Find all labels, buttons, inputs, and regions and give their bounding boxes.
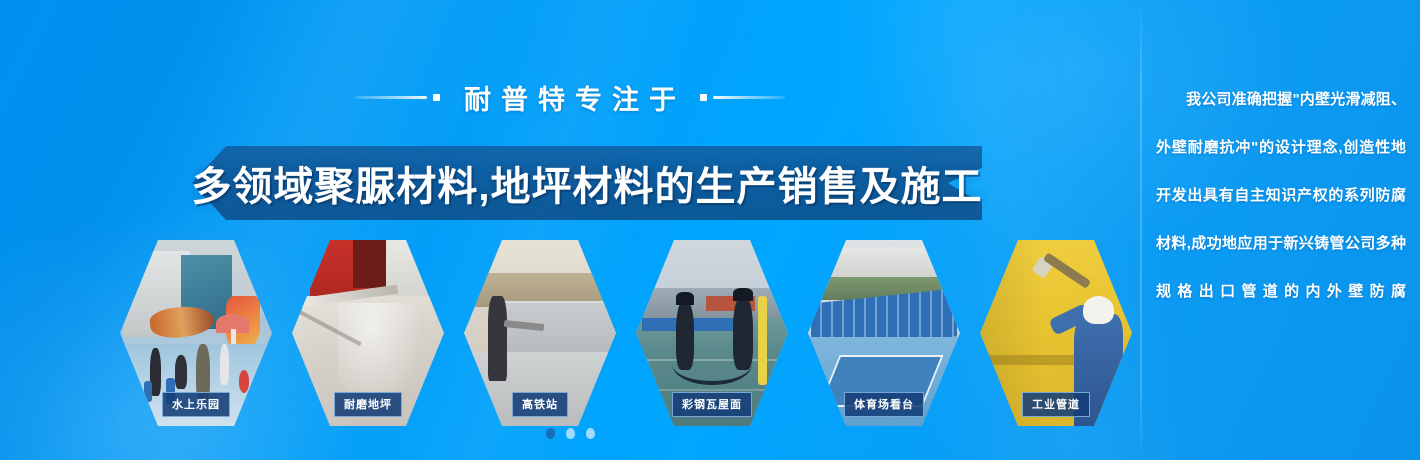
description-column: 我公司准确把握"内壁光滑减阻、外壁耐磨抗冲"的设计理念,创造性地开发出具有自主知…	[1156, 76, 1406, 316]
decorative-line-right	[700, 94, 785, 101]
line-bar	[713, 96, 785, 99]
pagination-dot-3[interactable]	[586, 428, 595, 439]
case-hexagon-stadium-stand[interactable]: 体育场看台	[808, 240, 960, 426]
case-label: 高铁站	[512, 392, 568, 417]
line-dot	[433, 94, 440, 101]
case-hexagon-industrial-pipeline[interactable]: 工业管道	[980, 240, 1132, 426]
case-label: 耐磨地坪	[334, 392, 402, 417]
case-label: 彩钢瓦屋面	[672, 392, 752, 417]
carousel-pagination[interactable]	[0, 428, 1140, 439]
line-dot	[700, 94, 707, 101]
case-label: 水上乐园	[162, 392, 230, 417]
promo-banner: 耐普特专注于 多领域聚脲材料,地坪材料的生产销售及施工	[0, 0, 1420, 460]
decorative-line-left	[355, 94, 440, 101]
pagination-dot-2[interactable]	[566, 428, 575, 439]
case-hexagon-color-steel-tile-roof[interactable]: 彩钢瓦屋面	[636, 240, 788, 426]
case-hexagon-row: 水上乐园 耐磨地坪	[120, 240, 1130, 426]
eyebrow-text: 耐普特专注于	[454, 78, 686, 117]
vertical-divider	[1140, 0, 1142, 460]
case-label: 体育场看台	[844, 392, 924, 417]
pagination-dot-1[interactable]	[546, 428, 555, 439]
line-bar	[355, 96, 427, 99]
case-hexagon-water-park[interactable]: 水上乐园	[120, 240, 272, 426]
case-label: 工业管道	[1022, 392, 1090, 417]
headline-ribbon: 多领域聚脲材料,地坪材料的生产销售及施工	[192, 146, 982, 220]
headline-text: 多领域聚脲材料,地坪材料的生产销售及施工	[192, 146, 982, 220]
description-text: 我公司准确把握"内壁光滑减阻、外壁耐磨抗冲"的设计理念,创造性地开发出具有自主知…	[1156, 76, 1406, 316]
case-hexagon-high-speed-rail-station[interactable]: 高铁站	[464, 240, 616, 426]
case-hexagon-wear-resistant-floor[interactable]: 耐磨地坪	[292, 240, 444, 426]
eyebrow-row: 耐普特专注于	[0, 78, 1140, 117]
